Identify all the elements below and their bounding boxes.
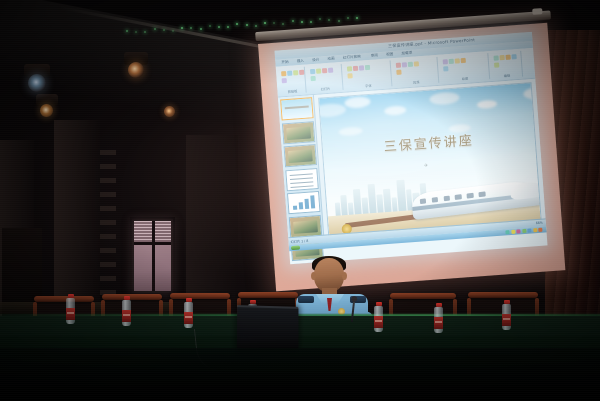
chair-top-rail [170,293,230,299]
ribbon-tab-5[interactable]: 审阅 [371,53,379,59]
ribbon-command-icon[interactable] [347,73,352,78]
ribbon-command-icon[interactable] [461,58,466,63]
ribbon-command-icon[interactable] [287,71,292,76]
cloud [477,100,498,109]
ribbon-group-label: 绘图 [441,74,489,83]
ribbon-command-icon[interactable] [293,70,298,75]
ribbon-group-label: 段落 [394,78,438,86]
truss-led [135,31,137,33]
ribbon-command-icon[interactable] [359,65,364,70]
taskbar-tray-icon[interactable] [539,228,543,232]
ribbon-command-icon[interactable] [328,68,333,73]
ribbon-command-icon[interactable] [311,76,316,81]
truss-led [200,28,202,30]
ribbon-group-2[interactable]: 字体 [344,60,393,89]
ribbon-command-icon[interactable] [347,66,352,71]
zoom-level-text[interactable]: 66% [536,221,543,226]
current-slide: 三保宣传讲座 ✈ [319,83,541,237]
ribbon-command-icon[interactable] [282,78,287,83]
water-bottle [502,300,511,330]
water-bottle [66,294,75,324]
thumbnail-number: 2 [282,130,284,134]
slide-thumbnail-2[interactable]: 2 [282,121,315,144]
ribbon-command-icon[interactable] [443,66,448,71]
ribbon-command-icon[interactable] [499,55,504,60]
ribbon-group-3[interactable]: 段落 [393,57,440,86]
slide-thumbnail-3[interactable]: 3 [284,144,317,167]
ribbon-command-icon[interactable] [353,66,358,71]
ribbon-tab-2[interactable]: 设计 [312,58,320,64]
ribbon-command-icon[interactable] [493,55,498,60]
thumbnail-photo [286,126,311,140]
laptop [237,305,298,351]
cloud [338,126,363,136]
slide-thumbnail-4[interactable]: 4 [285,167,318,190]
ribbon-command-icon[interactable] [299,70,304,75]
cloud [319,102,346,117]
water-bottle [374,302,383,332]
ribbon-command-icon[interactable] [402,62,407,67]
ribbon-group-label: 剪贴板 [279,88,305,95]
cloud [429,91,460,105]
powerpoint-workspace: 12345678 三保宣传讲座 ✈ [278,79,547,251]
laptop-lid-edge [237,305,298,309]
slide-thumbnail-1[interactable]: 1 [280,97,313,120]
ribbon-command-icon[interactable] [511,54,516,59]
ribbon-group-5[interactable]: 编辑 [490,51,523,79]
water-bottle [122,296,131,326]
skyline-building [341,195,348,216]
thumbnail-photo [288,149,313,163]
bottle-label [374,316,383,328]
chair-top-rail [238,292,298,298]
train-window [478,192,485,197]
ribbon-command-icon[interactable] [310,69,315,74]
bottle-label [184,312,193,324]
taskbar-tray-icon[interactable] [533,228,537,232]
ribbon-command-icon[interactable] [455,58,460,63]
truss-led [301,21,303,23]
train-nose [509,181,540,201]
ribbon-tab-6[interactable]: 视图 [386,52,394,58]
ribbon-tab-0[interactable]: 开始 [281,60,289,66]
stage-light-warm [40,104,53,117]
taskbar-tray-icon[interactable] [506,230,510,234]
truss-led [163,29,165,31]
chair-top-rail [390,293,456,299]
ribbon-command-icon[interactable] [316,68,321,73]
ribbon-command-icon[interactable] [443,59,448,64]
thumbnail-bar [299,202,304,209]
skyline-building [396,179,406,212]
taskbar-tray-icon[interactable] [517,230,521,234]
ribbon-command-icon[interactable] [505,55,510,60]
ribbon-command-icon[interactable] [396,70,401,75]
thumbnail-number: 4 [285,177,287,181]
train-window [420,199,427,204]
truss-led [181,27,183,29]
ribbon-group-label: 幻灯片 [308,85,342,92]
truss-led [338,20,340,22]
ribbon-tab-7[interactable]: 加载项 [401,51,412,57]
taskbar-tray-icon[interactable] [528,229,532,233]
window-mullion-horizontal [134,242,171,245]
train-window [443,196,450,201]
ear [311,272,316,280]
ribbon-group-label: 编辑 [492,72,522,79]
stage-light-small-amber [164,106,175,117]
taskbar-tray-icon[interactable] [522,229,526,233]
ribbon-command-icon[interactable] [408,62,413,67]
stage-light-cool [28,74,46,92]
skyline-building [367,184,377,214]
ribbon-command-icon[interactable] [494,62,499,67]
thumbnail-bar [304,199,309,209]
ear [342,272,347,280]
truss-led [264,22,266,24]
projected-image: 三保宣传讲座.ppt - Microsoft PowerPoint 开始插入设计… [275,32,548,264]
slide-thumbnail-5[interactable]: 5 [287,191,320,214]
ribbon-command-icon[interactable] [365,65,370,70]
thumbnail-number: 5 [287,200,289,204]
window-mullion-vertical [152,221,155,291]
truss-led [218,26,220,28]
ribbon-group-label: 字体 [345,81,391,89]
thumbnail-number: 3 [284,153,286,157]
ribbon-group-0[interactable]: 剪贴板 [278,67,307,95]
thumbnail-bar [310,195,315,208]
epaulette [298,296,314,303]
chair-top-rail [468,292,538,298]
ribbon-tab-3[interactable]: 动画 [327,56,335,62]
truss-led [347,17,349,19]
skyline-building [353,189,362,215]
bottle-label [434,317,443,329]
ribbon-tab-1[interactable]: 插入 [297,59,305,65]
bottle-label [66,308,75,320]
bottle-label [502,314,511,326]
thumbnail-bar [293,206,297,210]
ribbon-group-1[interactable]: 幻灯片 [307,64,344,92]
skyline-building [361,197,368,215]
truss-led [126,30,128,32]
truss-led [209,25,211,27]
stage-light-amber [128,62,144,78]
chair-top-rail [102,294,162,300]
ribbon-command-icon[interactable] [322,68,327,73]
truss-led [246,24,248,26]
photo-scene: 三保宣传讲座.ppt - Microsoft PowerPoint 开始插入设计… [0,0,600,401]
projection-screen: 三保宣传讲座.ppt - Microsoft PowerPoint 开始插入设计… [258,23,566,294]
water-bottle [434,303,443,333]
cloud [384,105,407,116]
truss-led [255,25,257,27]
ribbon-group-4[interactable]: 绘图 [439,53,490,83]
skyline-building [383,189,392,213]
train-window [467,193,474,198]
thumbnail-number: 6 [289,224,291,228]
screen-roller-knob [532,8,542,15]
thumbnail-photo [293,220,318,234]
thumbnail-number: 1 [280,106,282,110]
taskbar-tray-icon[interactable] [511,230,515,234]
start-button[interactable] [291,245,300,250]
lit-window [134,221,171,291]
truss-led [292,20,294,22]
head [314,258,344,292]
ribbon-command-icon[interactable] [449,59,454,64]
airplane-icon: ✈ [424,163,429,169]
bottle-label [122,310,131,322]
cloud [345,96,372,109]
slide-editing-area[interactable]: 三保宣传讲座 ✈ [318,82,542,238]
train-window [431,197,438,202]
ribbon-command-icon[interactable] [396,63,401,68]
foreground-shadow [0,348,600,401]
chair-top-rail [34,296,94,302]
train-window [455,195,462,200]
ribbon-command-icon[interactable] [281,71,286,76]
truss-led [172,30,174,32]
water-bottle [184,298,193,328]
ribbon-command-icon[interactable] [414,61,419,66]
